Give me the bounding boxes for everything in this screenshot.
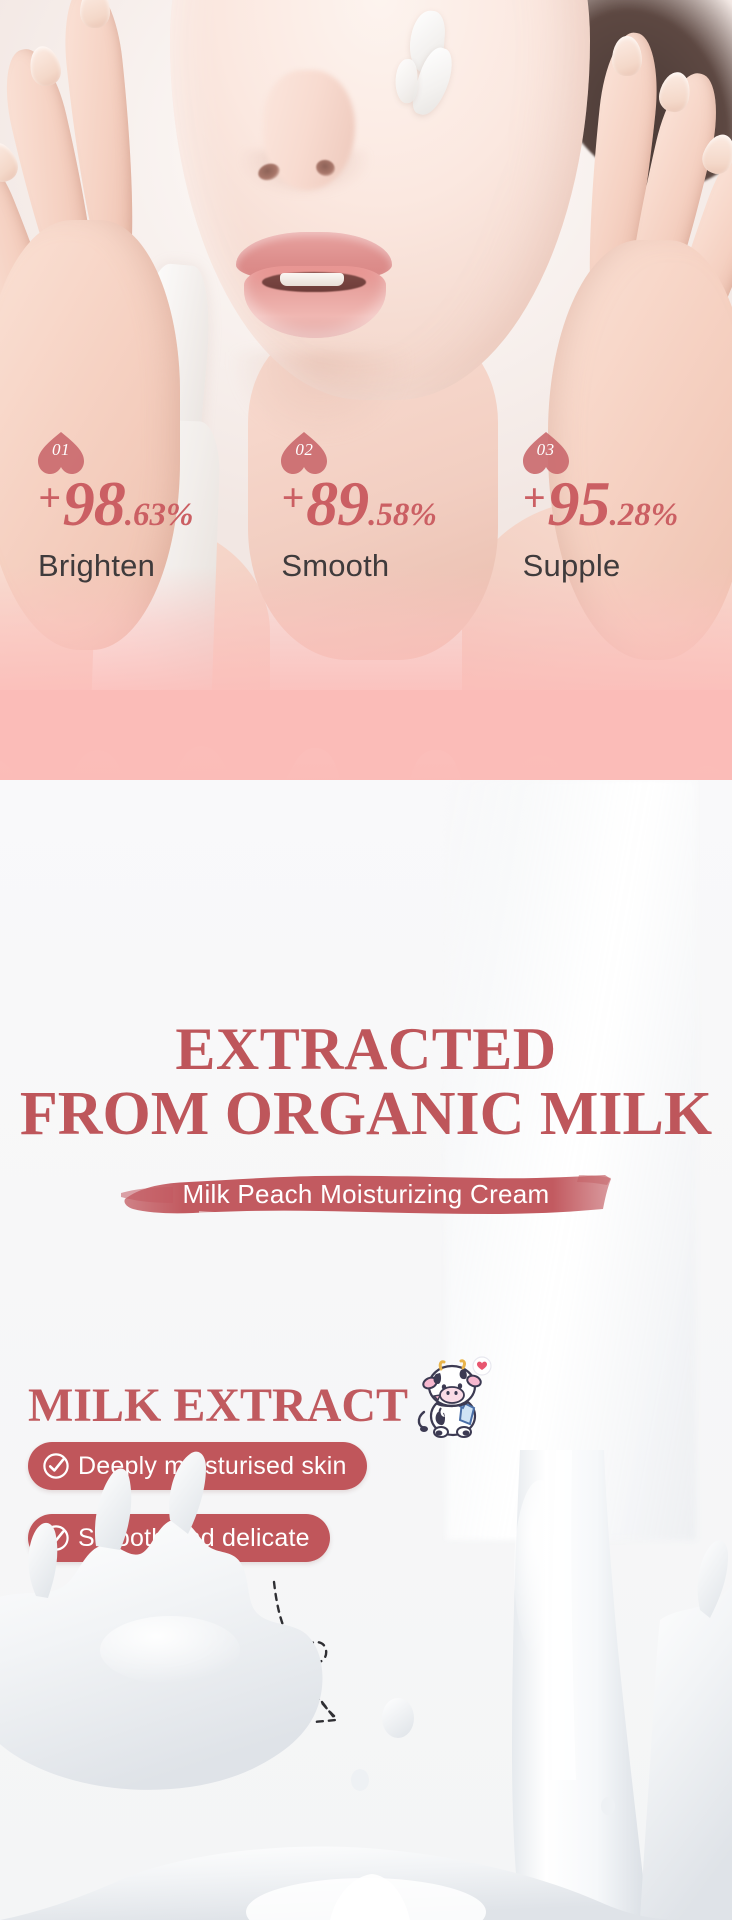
stat-label: Smooth [281, 548, 490, 584]
stat-badge-number: 03 [537, 440, 555, 460]
milk-extract-heading: MILK EXTRACT [28, 1356, 492, 1430]
organic-milk-section: EXTRACTED FROM ORGANIC MILK [0, 780, 732, 1920]
stat-item-supple: 03 +95.28% Supple [491, 432, 732, 632]
stat-decimal: .28% [609, 497, 678, 533]
fingernail [80, 0, 110, 28]
cow-mascot-icon [414, 1356, 492, 1440]
headline-line-1: EXTRACTED [175, 1016, 556, 1082]
stat-badge: 02 [281, 432, 327, 474]
product-name-text: Milk Peach Moisturizing Cream [182, 1179, 549, 1210]
stat-decimal: .58% [368, 497, 437, 533]
stat-integer: 95 [547, 468, 609, 539]
stat-item-brighten: 01 +98.63% Brighten [0, 432, 247, 632]
plus-sign: + [281, 475, 304, 520]
stat-item-smooth: 02 +89.58% Smooth [247, 432, 490, 632]
milk-extract-title: MILK EXTRACT [28, 1382, 408, 1430]
hero-model-photo: 01 +98.63% Brighten 02 +89.58% Smooth [0, 0, 732, 790]
product-name-banner: Milk Peach Moisturizing Cream [0, 1162, 732, 1224]
brush-stroke: Milk Peach Moisturizing Cream [119, 1169, 613, 1217]
page-title: EXTRACTED FROM ORGANIC MILK [0, 1018, 732, 1147]
stat-badge-number: 02 [295, 440, 313, 460]
stat-badge-number: 01 [52, 440, 70, 460]
plus-sign: + [523, 475, 546, 520]
stat-label: Brighten [38, 548, 247, 584]
stat-decimal: .63% [125, 497, 194, 533]
milk-drip-divider [0, 690, 732, 790]
milk-splash-image [0, 1450, 732, 1920]
stat-value: +98.63% [38, 472, 247, 536]
product-marketing-page: 01 +98.63% Brighten 02 +89.58% Smooth [0, 0, 732, 1920]
stat-integer: 89 [306, 468, 368, 539]
headline-line-2: FROM ORGANIC MILK [0, 1082, 732, 1148]
stat-integer: 98 [63, 468, 125, 539]
stats-row: 01 +98.63% Brighten 02 +89.58% Smooth [0, 432, 732, 632]
stat-badge: 03 [523, 432, 569, 474]
stat-value: +89.58% [281, 472, 490, 536]
stat-badge: 01 [38, 432, 84, 474]
stat-value: +95.28% [523, 472, 732, 536]
teeth [280, 273, 344, 286]
stat-label: Supple [523, 548, 732, 584]
plus-sign: + [38, 475, 61, 520]
